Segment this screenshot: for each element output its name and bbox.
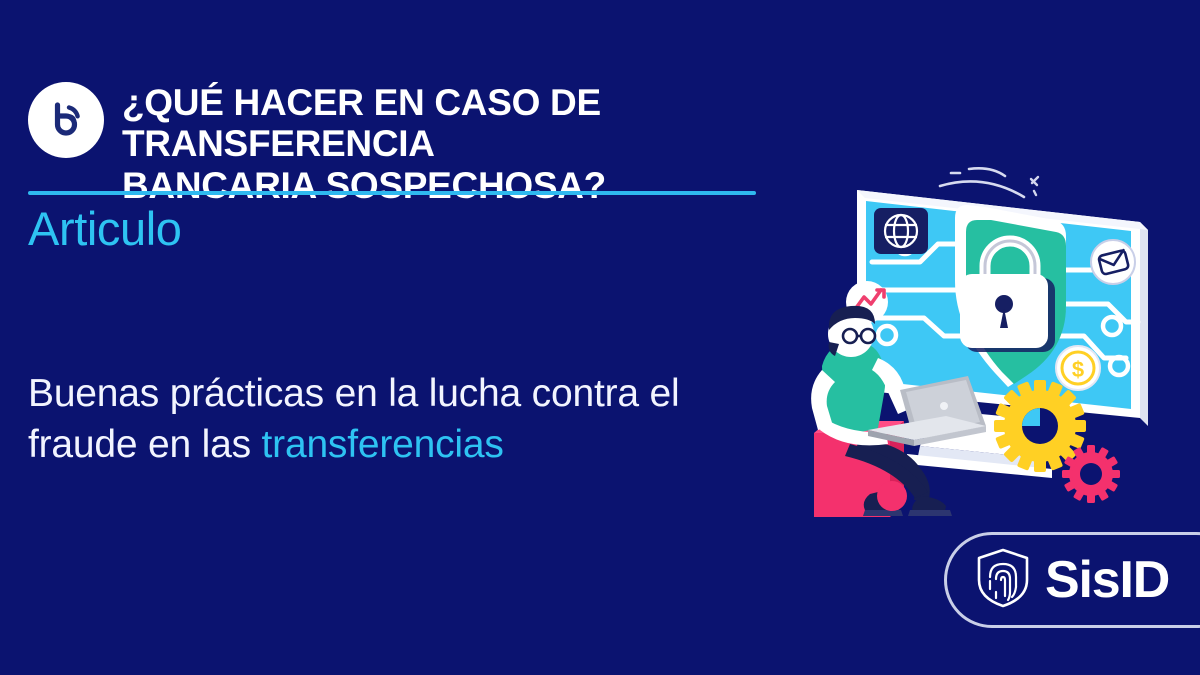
subtitle: Buenas prácticas en la lucha contra el f… — [28, 368, 768, 471]
sisid-wordmark: SisID — [1045, 554, 1169, 606]
svg-text:$: $ — [1072, 357, 1084, 382]
page-title: ¿QUÉ HACER EN CASO DE TRANSFERENCIA BANC… — [122, 78, 788, 206]
subtitle-highlight: transferencias — [262, 423, 504, 466]
blog-rss-b-icon — [28, 82, 104, 158]
title-divider — [28, 191, 756, 195]
gear-large — [994, 380, 1086, 472]
dollar-coin-icon: $ — [1056, 346, 1100, 390]
envelope-bubble-icon — [1091, 240, 1135, 284]
poster-canvas: ¿QUÉ HACER EN CASO DE TRANSFERENCIA BANC… — [0, 0, 1200, 675]
cybersecurity-illustration: $ — [788, 158, 1200, 520]
content-type-label: Articulo — [28, 203, 182, 255]
fingerprint-shield-icon — [975, 547, 1031, 614]
sisid-logo[interactable]: SisID — [944, 532, 1200, 628]
header: ¿QUÉ HACER EN CASO DE TRANSFERENCIA BANC… — [28, 78, 788, 206]
globe-icon-tile — [874, 208, 928, 254]
